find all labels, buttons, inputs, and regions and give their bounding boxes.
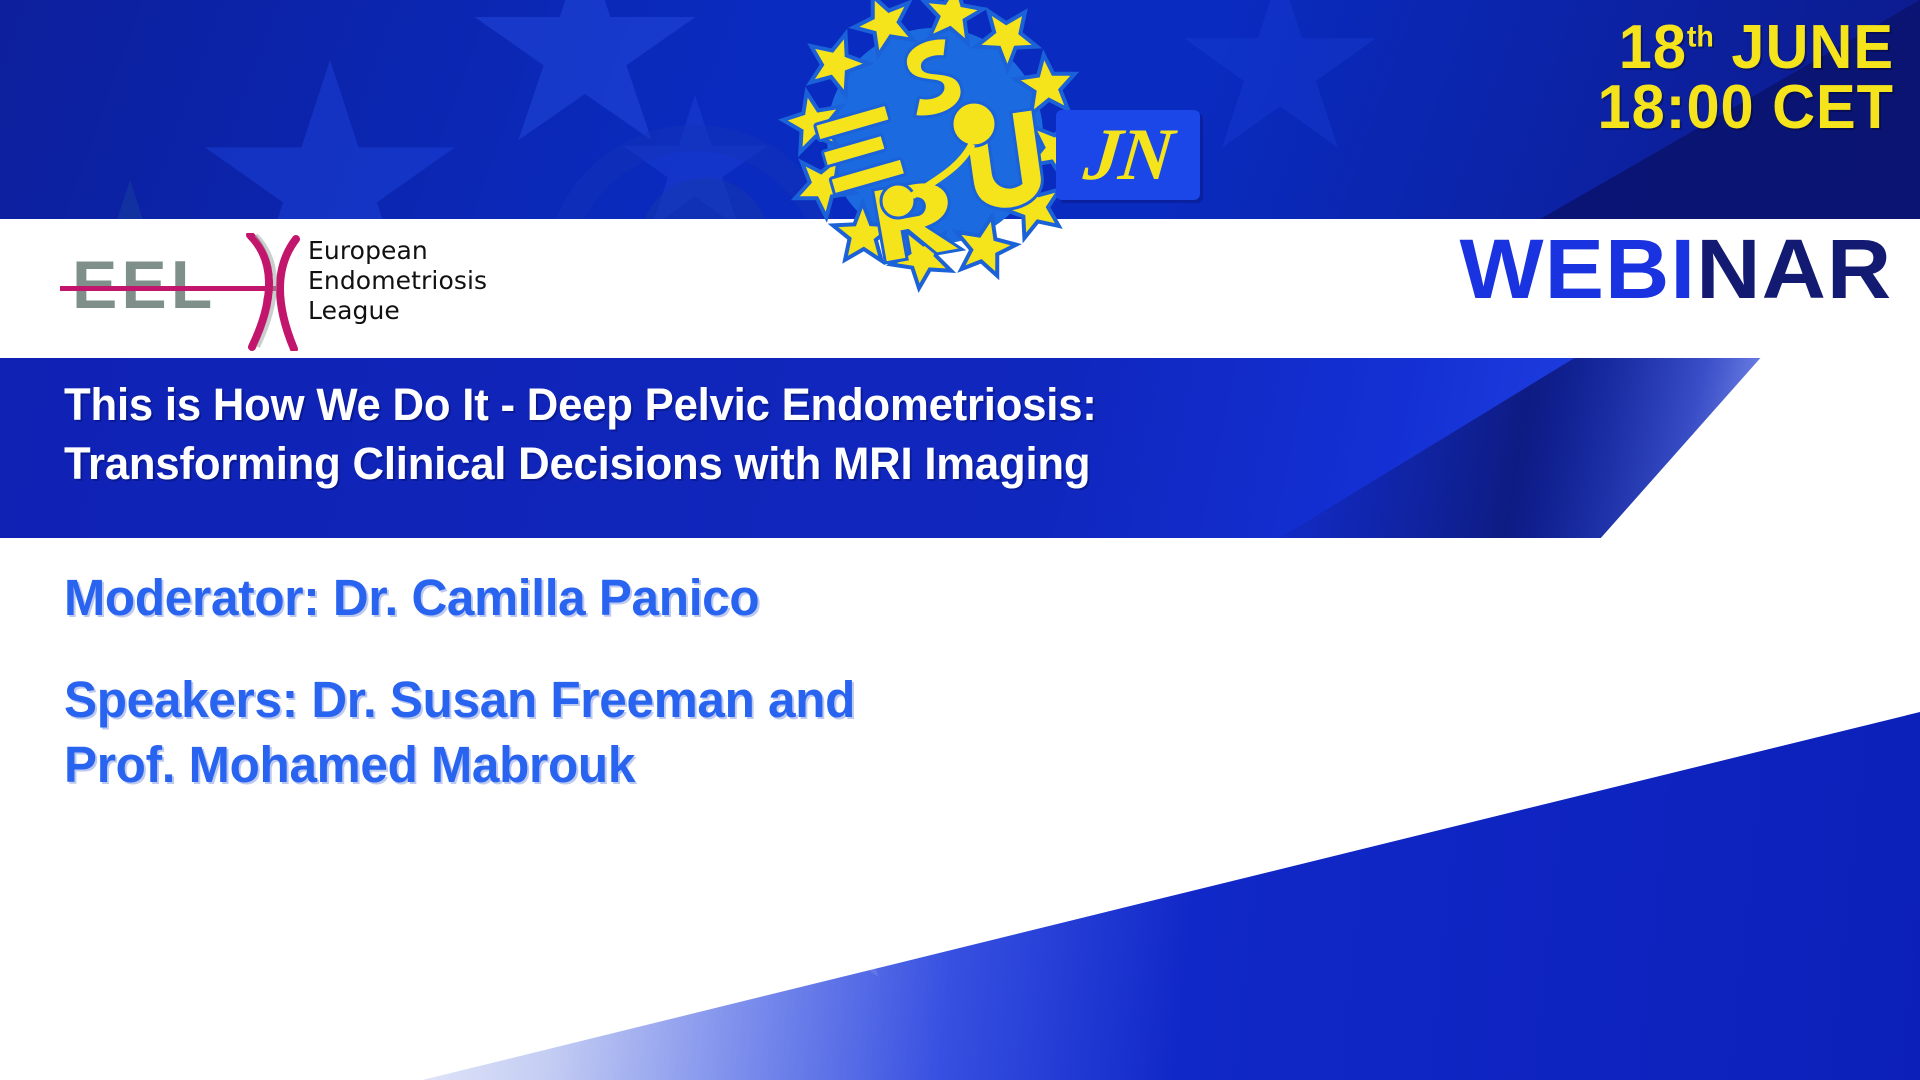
- event-date-line: 18th JUNE: [1452, 18, 1894, 78]
- decorative-star-icon: [1180, 0, 1380, 165]
- speakers-line: Speakers: Dr. Susan Freeman and Prof. Mo…: [64, 668, 855, 797]
- webinar-part-2: NAR: [1696, 222, 1892, 316]
- event-day-suffix: th: [1687, 20, 1714, 53]
- page-title: This is How We Do It - Deep Pelvic Endom…: [64, 376, 1097, 493]
- eel-full-name-text: European Endometriosis League: [308, 236, 487, 326]
- event-date-block: 18th JUNE 18:00 CET: [1434, 18, 1894, 137]
- title-band: This is How We Do It - Deep Pelvic Endom…: [0, 358, 1920, 538]
- webinar-part-1: WEBI: [1459, 222, 1696, 316]
- jn-letters-text: JN: [1051, 110, 1204, 200]
- decorative-star-icon: [430, 800, 640, 1005]
- decorative-star-icon: [40, 180, 220, 219]
- moderator-line: Moderator: Dr. Camilla Panico: [64, 566, 855, 630]
- eel-abbrev-text: EEL: [72, 251, 216, 319]
- esujn-logo: JN: [760, 0, 1180, 296]
- jn-badge: JN: [1056, 110, 1200, 200]
- webinar-announcement-banner: EEL European Endometriosis League WEBINA…: [0, 0, 1920, 1080]
- event-time-line: 18:00 CET: [1452, 78, 1894, 138]
- eel-swoosh-icon: [210, 233, 300, 351]
- eel-logo: EEL European Endometriosis League: [60, 227, 480, 349]
- people-block: Moderator: Dr. Camilla Panico Speakers: …: [64, 566, 855, 797]
- webinar-wordmark: WEBINAR: [1459, 227, 1892, 311]
- decorative-star-icon: [200, 60, 460, 219]
